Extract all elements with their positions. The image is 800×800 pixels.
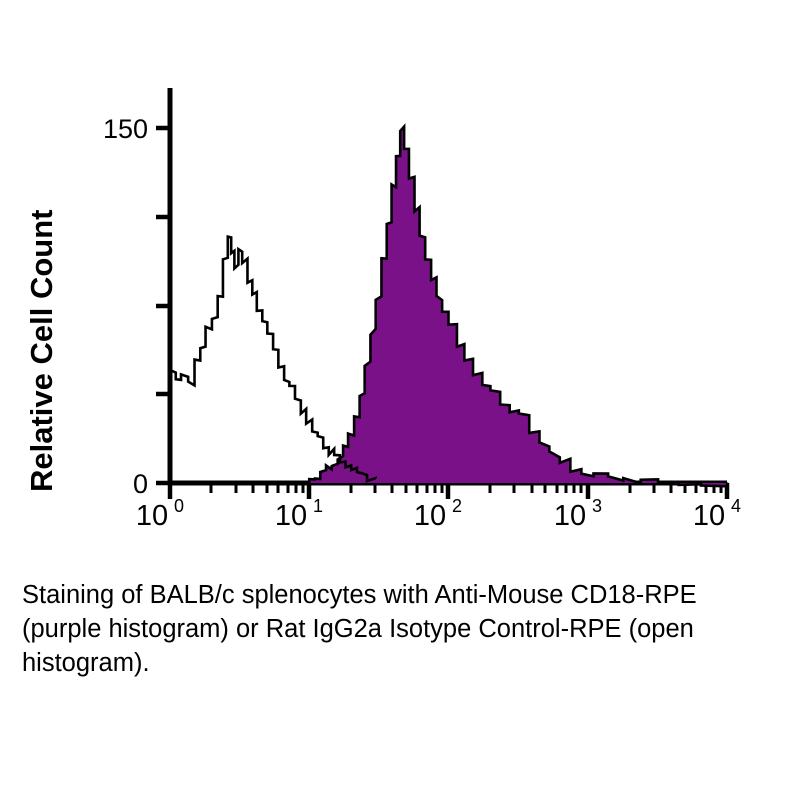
x-tick-label-4-base: 10 [693, 500, 725, 532]
x-tick-label-4-exponent: 4 [731, 496, 741, 516]
x-tick-label-1-exponent: 1 [313, 496, 323, 516]
figure-caption: Staining of BALB/c splenocytes with Anti… [22, 578, 722, 680]
x-tick-label-2-base: 10 [414, 500, 446, 532]
x-tick-label-2-exponent: 2 [452, 496, 462, 516]
filled-histogram-area [309, 127, 727, 487]
x-tick-label-0-base: 10 [136, 500, 168, 532]
x-tick-label-3-exponent: 3 [592, 496, 602, 516]
flow-cytometry-figure: Relative Cell Count 150 0 [0, 0, 800, 800]
histogram-plot: Relative Cell Count 150 0 [0, 0, 800, 560]
x-axis-tick-labels: 10 0 10 1 10 2 10 3 10 4 [136, 496, 741, 532]
x-tick-label-1-base: 10 [275, 500, 307, 532]
x-tick-label-0-exponent: 0 [174, 496, 184, 516]
y-axis-title: Relative Cell Count [24, 210, 59, 493]
y-tick-label-150: 150 [103, 114, 148, 144]
x-tick-label-3-base: 10 [554, 500, 586, 532]
y-tick-label-0: 0 [133, 469, 148, 499]
